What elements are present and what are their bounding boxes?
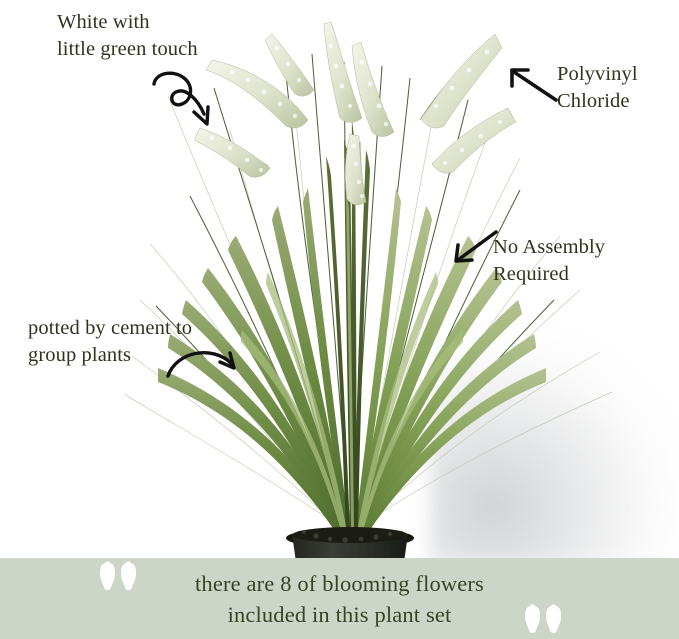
quote-glyph-icon: [546, 604, 561, 633]
down-left-arrow: [450, 228, 502, 266]
up-left-arrow: [506, 64, 562, 106]
callout-polyvinyl-chloride: Polyvinyl Chloride: [557, 61, 638, 116]
callout-white-green-touch: White with little green touch: [57, 9, 198, 64]
quote-glyph-icon: [525, 604, 540, 633]
loop-down-right-arrow: [148, 68, 240, 140]
quote-glyph-icon: [121, 561, 136, 590]
quote-mark-left: [100, 561, 136, 590]
quote-mark-right: [525, 604, 561, 633]
product-infographic: White with little green touch Polyvinyl …: [0, 0, 679, 639]
quote-glyph-icon: [100, 561, 115, 590]
callout-no-assembly-required: No Assembly Required: [493, 234, 605, 289]
curve-right-down-arrow: [164, 342, 246, 386]
